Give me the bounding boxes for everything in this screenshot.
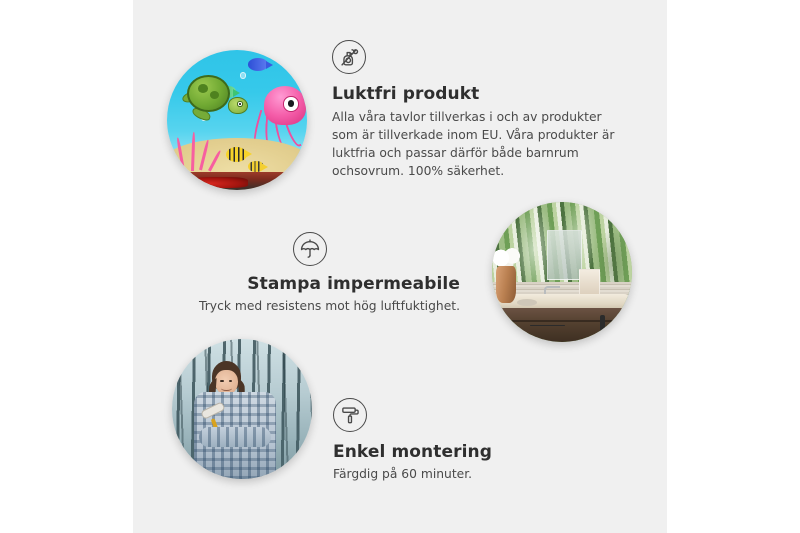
feature-title: Enkel montering	[333, 442, 593, 463]
feature-body: Färgdig på 60 minuter.	[333, 466, 593, 484]
feature-title: Luktfri produkt	[332, 84, 628, 105]
fish-yellow-icon	[248, 161, 263, 172]
feature-body: Tryck med resistens mot hög luftfuktighe…	[160, 298, 460, 316]
paint-roller-icon	[333, 398, 367, 432]
turtle-icon	[182, 75, 245, 123]
fish-yellow-icon	[226, 147, 247, 162]
no-spray-bottle-icon	[332, 40, 366, 74]
feature-image-odour-free	[167, 50, 307, 190]
fish-blue-icon	[248, 58, 268, 71]
feature-image-easy-assembly	[172, 339, 312, 479]
mirror	[547, 230, 582, 280]
feature-block-odour-free: Luktfri produkt Alla våra tavlor tillver…	[332, 40, 628, 181]
vanity-cabinet	[500, 308, 632, 342]
vase	[496, 266, 516, 302]
feature-block-waterproof: Stampa impermeabile Tryck med resistens …	[160, 232, 460, 316]
soap-dish	[517, 299, 537, 306]
feature-block-easy-assembly: Enkel montering Färgdig på 60 minuter.	[333, 398, 593, 484]
woman-with-roller	[194, 361, 275, 479]
coral-icon	[173, 128, 221, 170]
umbrella-icon	[293, 232, 327, 266]
feature-title: Stampa impermeabile	[160, 274, 460, 295]
shipwreck-foreground	[167, 172, 307, 190]
promo-banner: Luktfri produkt Alla våra tavlor tillver…	[0, 0, 800, 533]
feature-body: Alla våra tavlor tillverkas i och av pro…	[332, 109, 628, 180]
feature-image-waterproof	[492, 202, 632, 342]
